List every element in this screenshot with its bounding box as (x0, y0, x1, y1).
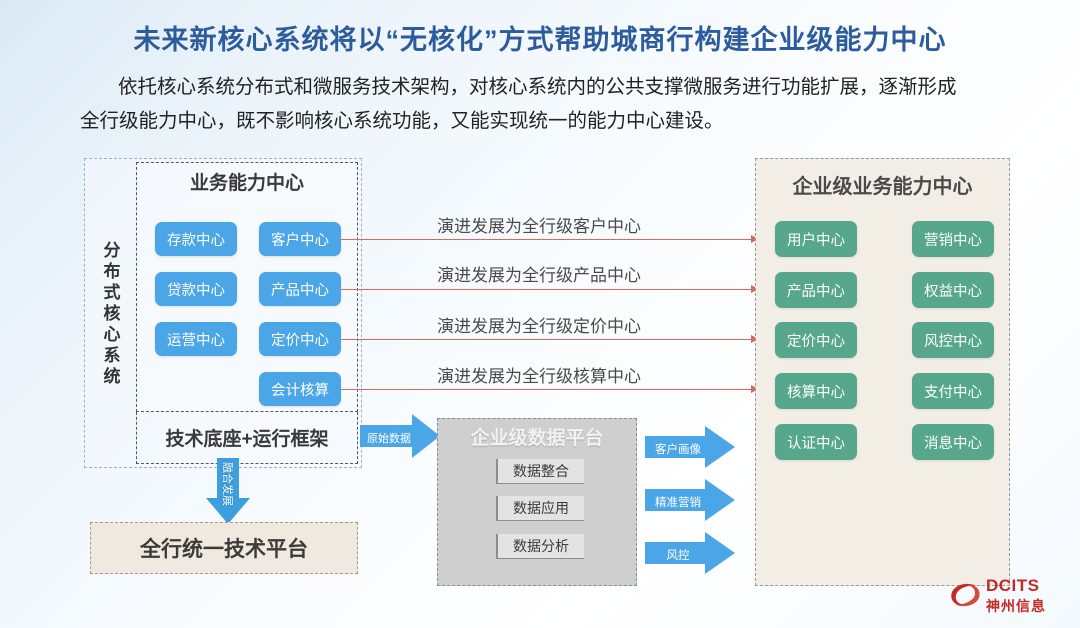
logo-text-cn: 神州信息 (986, 596, 1046, 616)
output-arrow-head-icon (705, 426, 735, 468)
output-arrow-precision-marketing: 精准营销 (645, 479, 735, 521)
tech-base-label: 技术底座+运行框架 (136, 412, 358, 464)
output-arrow-head-icon (705, 479, 735, 521)
distributed-core-system-label: 分 布 式 核 心 系 统 (88, 162, 136, 464)
core-label-char-0: 分 (104, 240, 121, 261)
business-capability-center-title: 业务能力中心 (136, 168, 358, 195)
integration-down-arrow: 融合发展 (206, 458, 250, 524)
slide-canvas: 未来新核心系统将以“无核化”方式帮助城商行构建企业级能力中心 依托核心系统分布式… (0, 0, 1080, 628)
subtitle-line-1: 依托核心系统分布式和微服务技术架构，对核心系统内的公共支撑微服务进行功能扩展，逐… (80, 76, 957, 98)
core-label-char-4: 心 (104, 324, 121, 345)
output-arrow-head-icon (705, 532, 735, 574)
core-cell-loan[interactable]: 贷款中心 (155, 272, 237, 306)
ent-cell-message[interactable]: 消息中心 (912, 424, 994, 460)
core-label-char-3: 核 (104, 303, 121, 324)
red-connector-pricing (341, 339, 753, 340)
ent-cell-user[interactable]: 用户中心 (775, 221, 857, 257)
red-connector-customer (341, 239, 753, 240)
ent-cell-authentication[interactable]: 认证中心 (775, 424, 857, 460)
output-arrow-label-precision-marketing: 精准营销 (647, 494, 709, 510)
core-label-char-5: 系 (104, 345, 121, 366)
evolution-label-customer: 演进发展为全行级客户中心 (437, 212, 641, 237)
ent-cell-payment[interactable]: 支付中心 (912, 373, 994, 409)
swirl-logo-icon (948, 578, 982, 612)
page-subtitle: 依托核心系统分布式和微服务技术架构，对核心系统内的公共支撑微服务进行功能扩展，逐… (80, 70, 1010, 138)
ent-cell-accounting[interactable]: 核算中心 (775, 373, 857, 409)
core-cell-deposit[interactable]: 存款中心 (155, 222, 237, 256)
output-arrow-label-customer-profile: 客户画像 (647, 441, 709, 457)
red-connector-product (341, 289, 753, 290)
data-platform-item-integration[interactable]: 数据整合 (496, 459, 584, 484)
enterprise-capability-center-title: 企业级业务能力中心 (755, 170, 1010, 199)
output-arrow-risk-control: 风控 (645, 532, 735, 574)
ent-cell-rights[interactable]: 权益中心 (912, 272, 994, 308)
down-arrow-label: 融合发展 (220, 456, 236, 512)
company-logo: DCITS 神州信息 (948, 574, 1066, 618)
output-arrow-label-risk-control: 风控 (647, 547, 709, 563)
data-platform-item-application[interactable]: 数据应用 (496, 496, 584, 521)
page-title: 未来新核心系统将以“无核化”方式帮助城商行构建企业级能力中心 (0, 18, 1080, 57)
core-cell-product[interactable]: 产品中心 (259, 272, 341, 306)
core-cell-customer[interactable]: 客户中心 (259, 222, 341, 256)
data-platform-item-analysis[interactable]: 数据分析 (496, 534, 584, 559)
raw-data-input-arrow: 原始数据 (360, 414, 440, 458)
input-arrow-head-icon (412, 414, 440, 458)
output-arrow-customer-profile: 客户画像 (645, 426, 735, 468)
input-arrow-label: 原始数据 (362, 430, 416, 446)
evolution-label-pricing: 演进发展为全行级定价中心 (437, 312, 641, 337)
core-cell-operation[interactable]: 运营中心 (155, 322, 237, 356)
core-cell-pricing[interactable]: 定价中心 (259, 322, 341, 356)
ent-cell-pricing[interactable]: 定价中心 (775, 322, 857, 358)
evolution-label-product: 演进发展为全行级产品中心 (437, 261, 641, 286)
enterprise-data-platform-title: 企业级数据平台 (437, 423, 637, 450)
evolution-label-accounting: 演进发展为全行级核算中心 (437, 362, 641, 387)
ent-cell-risk[interactable]: 风控中心 (912, 322, 994, 358)
logo-text-en: DCITS (986, 576, 1040, 596)
ent-cell-marketing[interactable]: 营销中心 (912, 221, 994, 257)
core-label-char-6: 统 (104, 366, 121, 387)
unified-tech-platform-box[interactable]: 全行统一技术平台 (90, 522, 358, 574)
core-label-char-1: 布 (104, 261, 121, 282)
red-connector-accounting (341, 389, 753, 390)
ent-cell-product[interactable]: 产品中心 (775, 272, 857, 308)
core-label-char-2: 式 (104, 282, 121, 303)
core-cell-accounting[interactable]: 会计核算 (259, 372, 341, 406)
subtitle-line-2: 全行级能力中心，既不影响核心系统功能，又能实现统一的能力中心建设。 (80, 110, 724, 132)
